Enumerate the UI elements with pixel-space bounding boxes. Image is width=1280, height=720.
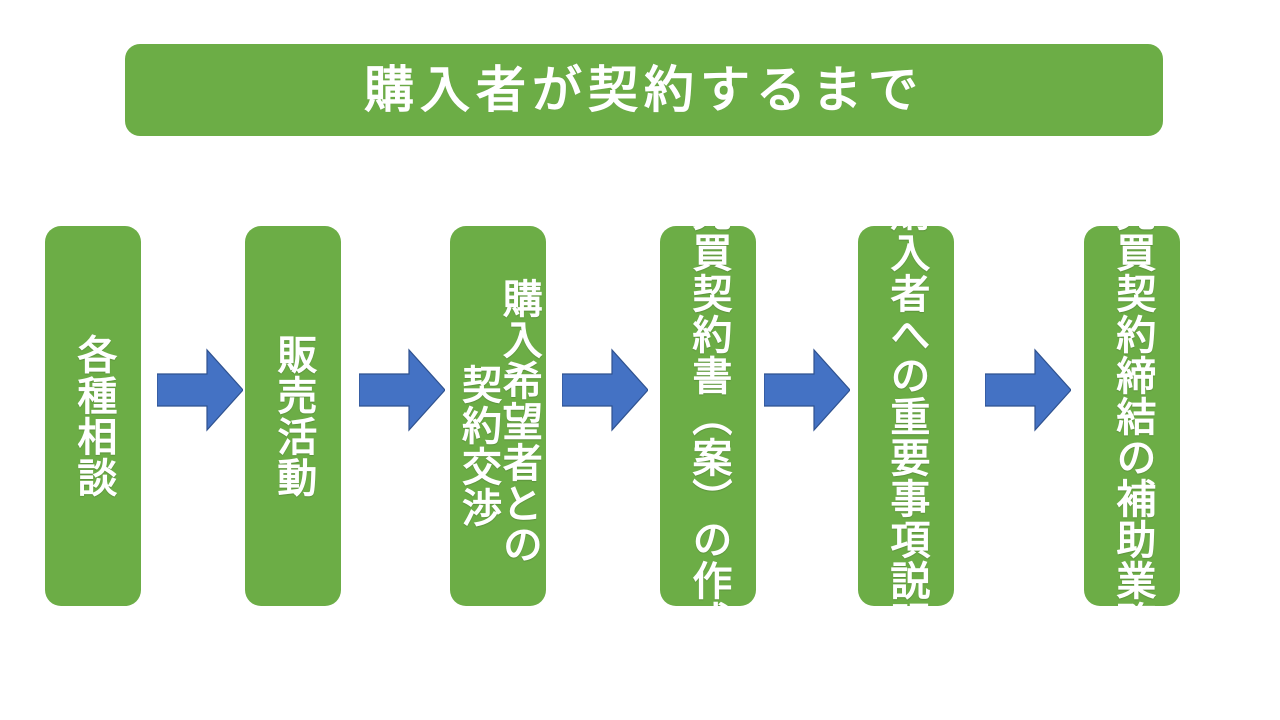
arrow-step1-to-step2-icon	[157, 348, 243, 432]
arrow-step5-to-step6-icon	[985, 348, 1071, 432]
process-box-text-step-1: 各種相談	[73, 226, 114, 606]
process-box-step-4[interactable]: 売買契約書（案）の作成	[660, 226, 756, 606]
process-box-text-step-5: 購入者への重要事項説明	[886, 226, 927, 606]
process-box-text-step-4: 売買契約書（案）の作成	[688, 226, 729, 606]
process-box-text-step-2: 販売活動	[273, 226, 314, 606]
process-label-step-3-col-2: 契約交渉	[457, 364, 498, 528]
title-banner: 購入者が契約するまで	[125, 44, 1163, 136]
process-label-step-1-col-1: 各種相談	[73, 334, 114, 498]
process-label-step-6-col-1: 売買契約締結の補助業務	[1112, 226, 1153, 606]
process-box-text-step-6: 売買契約締結の補助業務	[1112, 226, 1153, 606]
process-box-step-3[interactable]: 購入希望者との 契約交渉	[450, 226, 546, 606]
slide-canvas: 購入者が契約するまで 各種相談 販売活動 購入希望者との 契約交渉	[0, 0, 1280, 720]
page-title: 購入者が契約するまで	[364, 65, 924, 115]
process-label-step-4-col-1: 売買契約書（案）の作成	[688, 226, 729, 606]
arrow-step2-to-step3-icon	[359, 348, 445, 432]
process-label-step-2-col-1: 販売活動	[273, 334, 314, 498]
process-label-step-5-col-1: 購入者への重要事項説明	[886, 226, 927, 606]
process-label-step-3-col-1: 購入希望者との	[498, 278, 539, 565]
process-box-step-1[interactable]: 各種相談	[45, 226, 141, 606]
process-box-step-6[interactable]: 売買契約締結の補助業務	[1084, 226, 1180, 606]
arrow-step4-to-step5-icon	[764, 348, 850, 432]
process-box-text-step-3: 購入希望者との 契約交渉	[457, 226, 539, 606]
arrow-step3-to-step4-icon	[562, 348, 648, 432]
process-box-step-2[interactable]: 販売活動	[245, 226, 341, 606]
process-box-step-5[interactable]: 購入者への重要事項説明	[858, 226, 954, 606]
